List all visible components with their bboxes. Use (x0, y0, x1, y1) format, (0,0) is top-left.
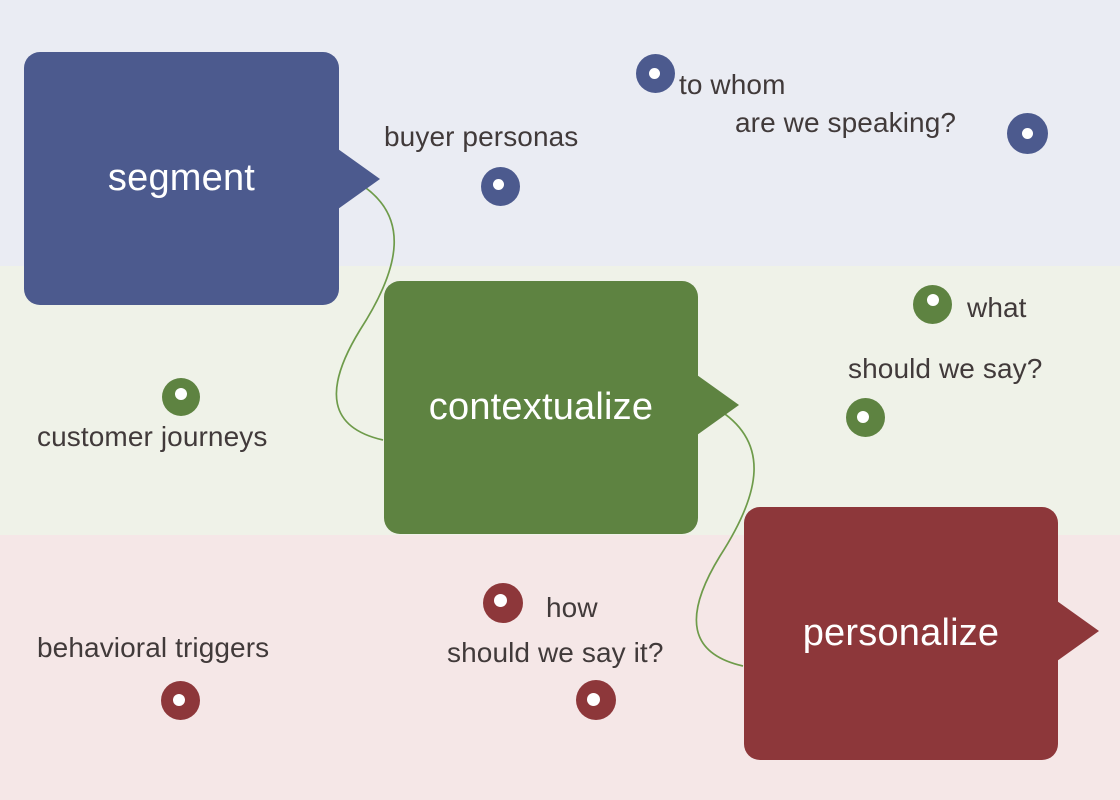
segment-label: segment (24, 52, 339, 305)
personalize-label: personalize (744, 507, 1058, 760)
note-to-whom: to whom (679, 69, 786, 101)
dot-to-whom (636, 54, 675, 93)
dot-behavioral-triggers (161, 681, 200, 720)
dot-hole (173, 694, 185, 706)
dot-hole (175, 388, 187, 400)
dot-customer-journeys (162, 378, 200, 416)
note-should-we-say-it: should we say it? (447, 637, 664, 669)
stage-personalize[interactable]: personalize (744, 507, 1058, 760)
segment-arrow-icon (338, 149, 380, 209)
personalize-arrow-icon (1057, 601, 1099, 661)
note-should-we-say: should we say? (848, 353, 1042, 385)
dot-hole (494, 594, 507, 607)
dot-hole (1022, 128, 1033, 139)
dot-are-we-speaking (1007, 113, 1048, 154)
dot-hole (649, 68, 660, 79)
dot-what (913, 285, 952, 324)
contextualize-arrow-icon (697, 375, 739, 435)
stage-contextualize[interactable]: contextualize (384, 281, 698, 534)
diagram-canvas: segment contextualize personalize buyer … (0, 0, 1120, 800)
dot-how (483, 583, 523, 623)
note-buyer-personas: buyer personas (384, 121, 578, 153)
note-what: what (967, 292, 1027, 324)
contextualize-label: contextualize (384, 281, 698, 534)
note-customer-journeys: customer journeys (37, 421, 267, 453)
dot-hole (857, 411, 869, 423)
dot-buyer-personas (481, 167, 520, 206)
note-behavioral-triggers: behavioral triggers (37, 632, 269, 664)
dot-hole (493, 179, 504, 190)
dot-should-we-say (846, 398, 885, 437)
dot-hole (587, 693, 600, 706)
note-how: how (546, 592, 598, 624)
dot-should-we-say-it (576, 680, 616, 720)
stage-segment[interactable]: segment (24, 52, 339, 305)
note-are-we-speaking: are we speaking? (735, 107, 956, 139)
dot-hole (927, 294, 939, 306)
